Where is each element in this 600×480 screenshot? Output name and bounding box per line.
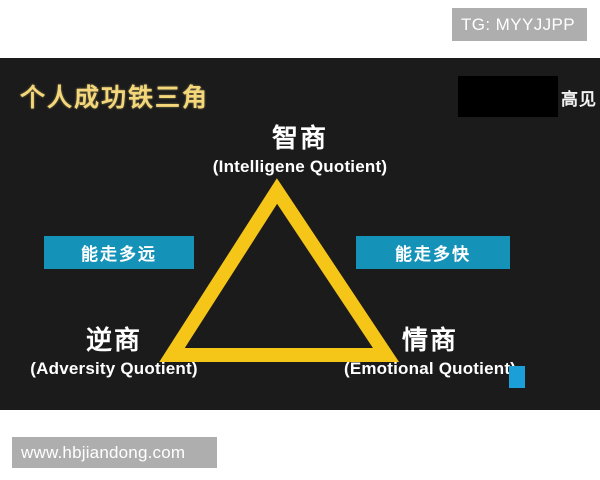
page-title: 个人成功铁三角 (20, 78, 209, 114)
vertex-iq-cn: 智商 (0, 124, 600, 154)
poster-panel: 个人成功铁三角 高见 智商 (Intelligene Quotient) 逆商 … (0, 58, 600, 410)
badge-how-far: 能走多远 (44, 236, 194, 269)
vertex-iq-en: (Intelligene Quotient) (0, 156, 600, 177)
cyan-artifact-block (509, 366, 525, 388)
vertex-eq-cn: 情商 (330, 326, 530, 356)
vertex-eq-en: (Emotional Quotient) (330, 358, 530, 379)
vertex-label-eq: 情商 (Emotional Quotient) (330, 326, 530, 379)
corner-label: 高见 (561, 85, 597, 110)
telegram-watermark: TG: MYYJJPP (452, 8, 587, 41)
site-url-watermark: www.hbjiandong.com (12, 437, 217, 468)
vertex-label-iq: 智商 (Intelligene Quotient) (0, 124, 600, 177)
vertex-aq-cn: 逆商 (14, 326, 214, 356)
vertex-aq-en: (Adversity Quotient) (14, 358, 214, 379)
vertex-label-aq: 逆商 (Adversity Quotient) (14, 326, 214, 379)
redaction-box (458, 76, 558, 117)
badge-how-fast: 能走多快 (356, 236, 510, 269)
